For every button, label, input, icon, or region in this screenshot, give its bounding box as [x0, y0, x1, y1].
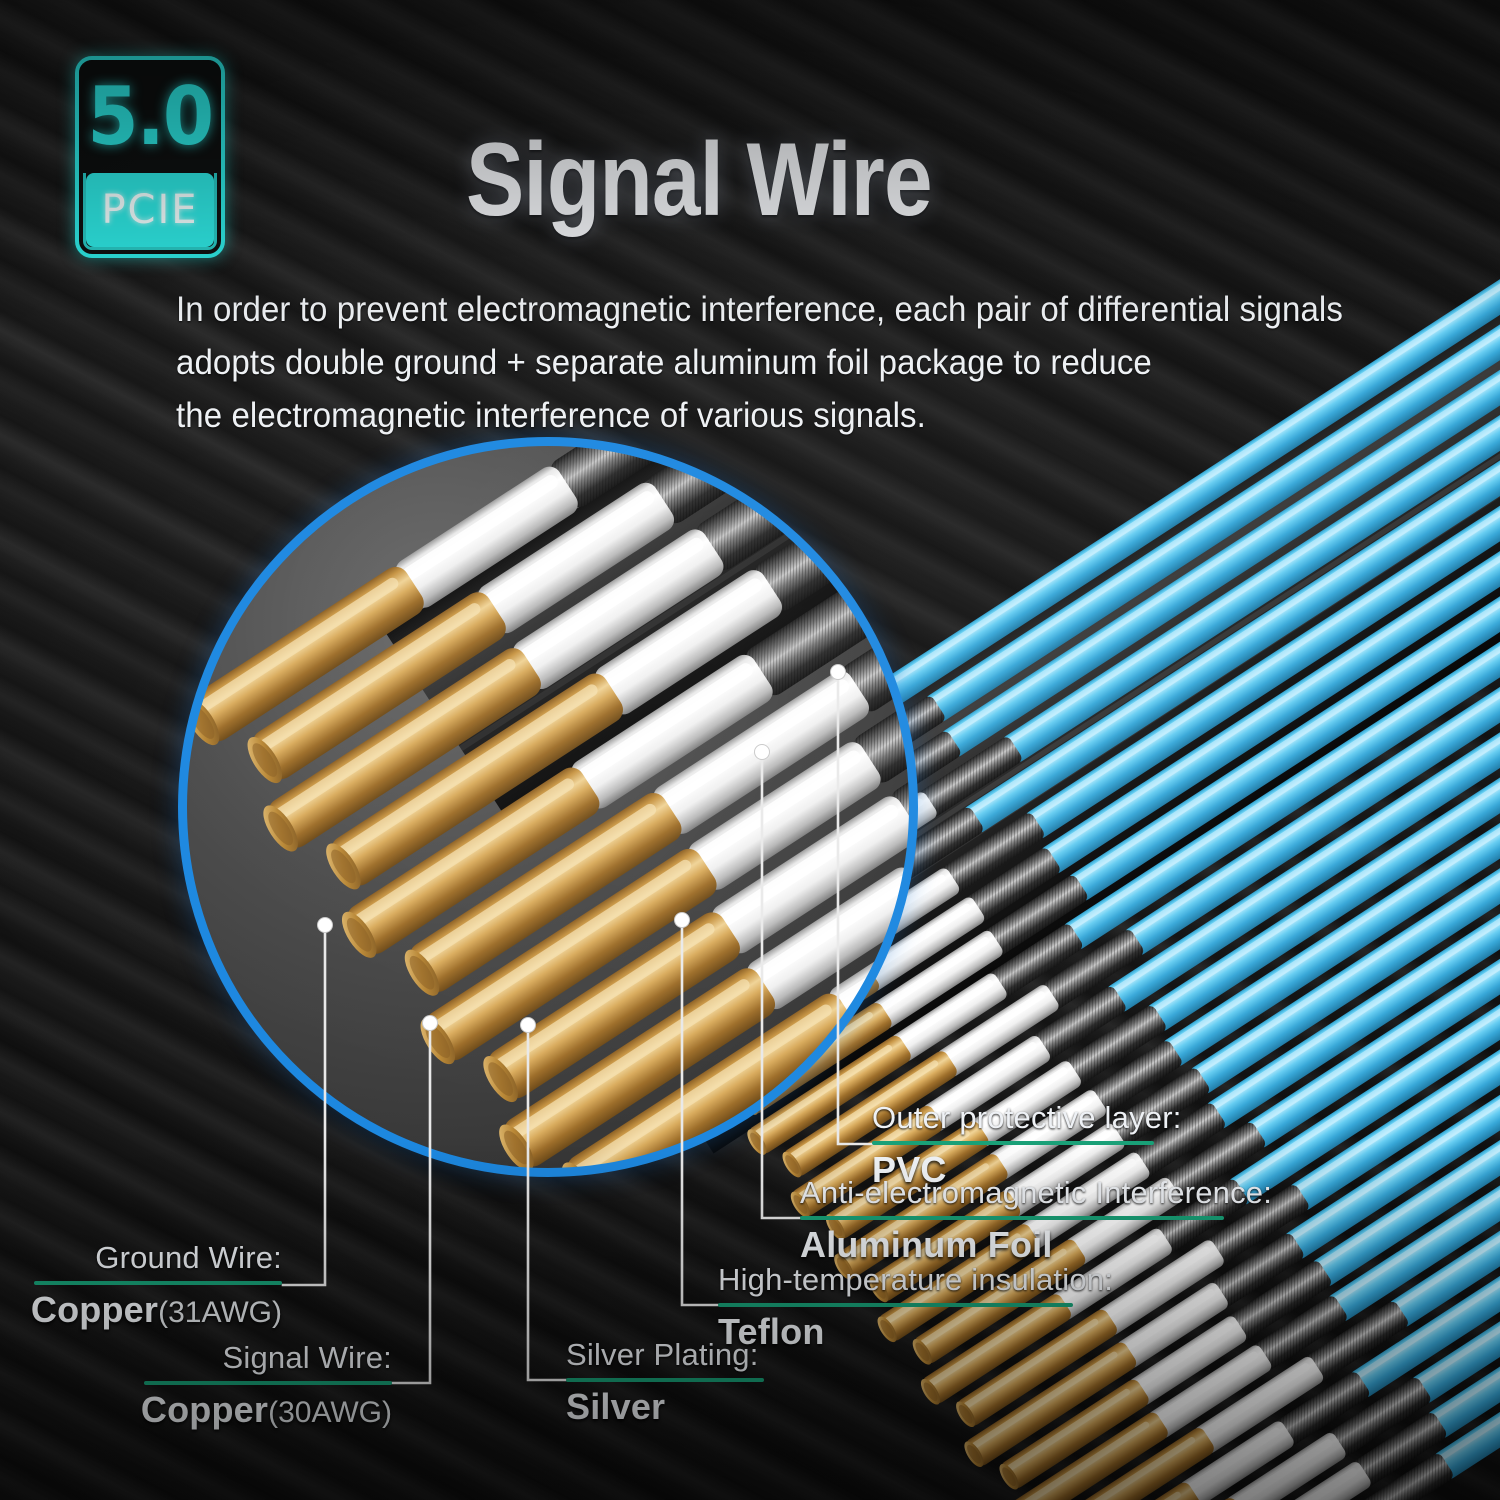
vignette-overlay [0, 0, 1500, 1500]
infographic-canvas: 5.0 PCIE Signal Wire In order to prevent… [0, 0, 1500, 1500]
